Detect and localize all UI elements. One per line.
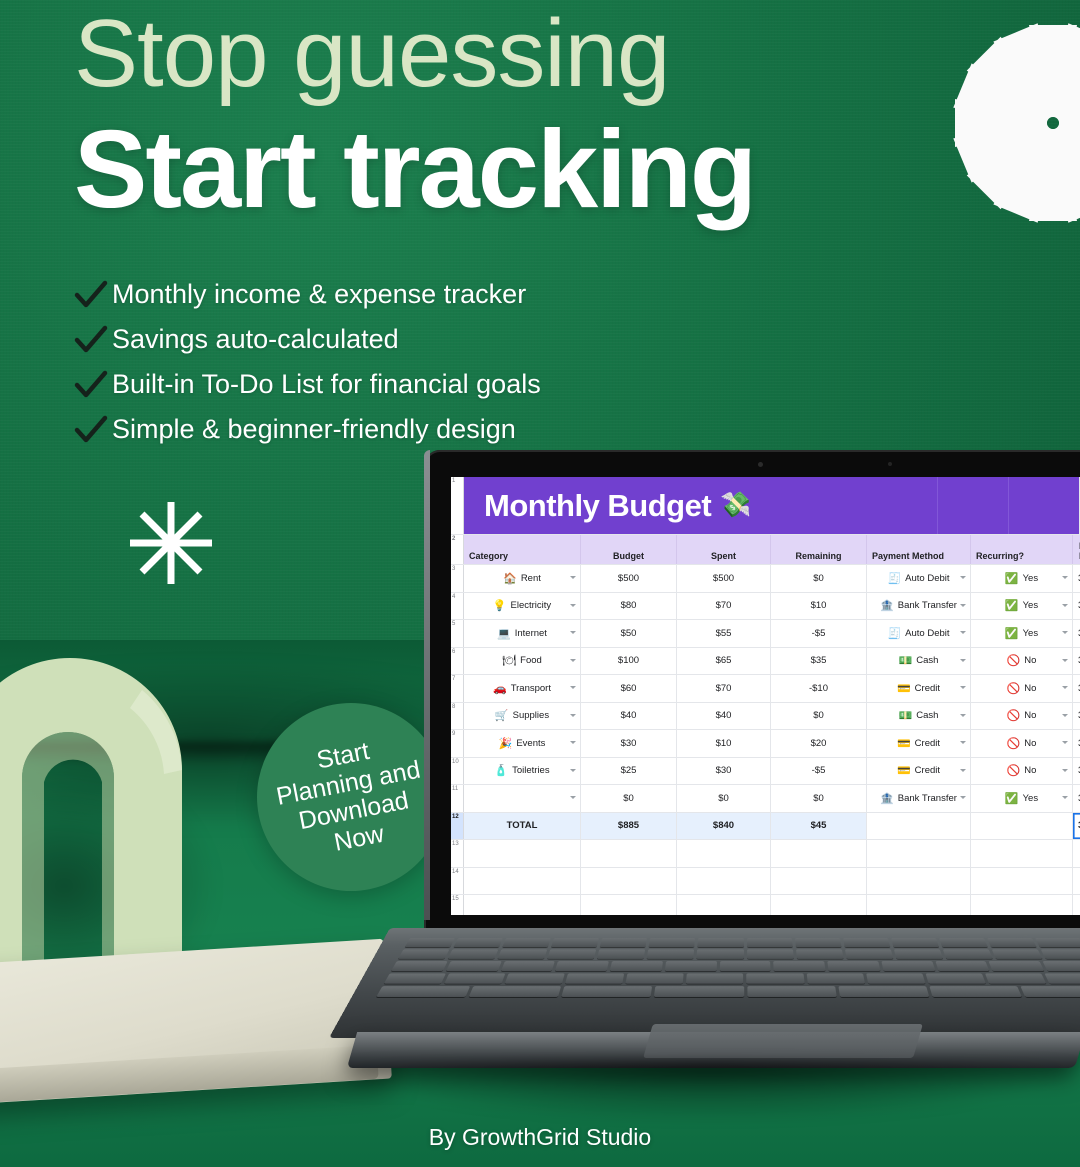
- table-empty-row[interactable]: 13: [451, 840, 1080, 868]
- column-header-budget[interactable]: Budget: [581, 535, 677, 564]
- cell-text: Transport: [511, 683, 551, 694]
- chevron-down-icon[interactable]: [1062, 576, 1068, 579]
- key: [1044, 973, 1080, 983]
- row-number[interactable]: 3: [451, 565, 464, 592]
- check-icon: [74, 415, 108, 445]
- laptop-trackpad[interactable]: [643, 1024, 923, 1058]
- headline-block: Stop guessing Start tracking: [74, 6, 974, 226]
- key: [562, 986, 653, 997]
- cell-payment-method[interactable]: 💵Cash: [867, 703, 971, 730]
- cell-text: No: [1024, 655, 1036, 666]
- cell-budget[interactable]: $60: [581, 675, 677, 702]
- chevron-down-icon[interactable]: [960, 659, 966, 662]
- headline-line-1: Stop guessing: [74, 6, 974, 102]
- cell-budget[interactable]: $100: [581, 648, 677, 675]
- row-number[interactable]: 5: [451, 620, 464, 647]
- payment-emoji-icon: 💵: [899, 654, 913, 667]
- chevron-down-icon[interactable]: [960, 796, 966, 799]
- table-row[interactable]: 4 💡Electricity $80 $70 $10 🏦Bank Transfe…: [451, 593, 1080, 621]
- cell-empty[interactable]: [971, 868, 1073, 895]
- cell-remaining[interactable]: $0: [771, 565, 867, 592]
- chevron-down-icon[interactable]: [960, 741, 966, 744]
- cell-text: Supplies: [513, 710, 549, 721]
- key: [647, 949, 694, 959]
- key: [1020, 986, 1080, 997]
- cell-total-label[interactable]: TOTAL: [464, 813, 581, 840]
- key: [989, 961, 1045, 971]
- cell-empty[interactable]: [464, 840, 581, 867]
- cell-spent[interactable]: $65: [677, 648, 771, 675]
- feature-label: Built-in To-Do List for financial goals: [112, 369, 541, 400]
- key: [1043, 961, 1080, 971]
- cell-category[interactable]: 💻Internet: [464, 620, 581, 647]
- cell-spent[interactable]: $0: [677, 785, 771, 812]
- key: [698, 938, 744, 947]
- chevron-down-icon[interactable]: [1062, 604, 1068, 607]
- cell-budget[interactable]: $500: [581, 565, 677, 592]
- cell-empty[interactable]: [971, 840, 1073, 867]
- row-number[interactable]: 14: [451, 868, 464, 895]
- key: [565, 973, 624, 983]
- chevron-down-icon[interactable]: [960, 769, 966, 772]
- cell-payment-method[interactable]: 💳Credit: [867, 675, 971, 702]
- key: [610, 961, 663, 971]
- cell-recurring[interactable]: 🚫No: [971, 675, 1073, 702]
- cell-category[interactable]: 🚗Transport: [464, 675, 581, 702]
- cell-empty[interactable]: [464, 868, 581, 895]
- feature-label: Simple & beginner-friendly design: [112, 414, 516, 445]
- key: [1041, 949, 1080, 959]
- cta-badge[interactable]: Start Planning and Download Now: [257, 703, 445, 891]
- cell-empty[interactable]: [1073, 840, 1080, 867]
- title-filler-cell: [938, 477, 1009, 534]
- cell-text: Cash: [916, 710, 938, 721]
- cell-empty[interactable]: [771, 840, 867, 867]
- check-icon: [74, 280, 108, 310]
- cell-text: Bank Transfer: [898, 600, 957, 611]
- cell-text: Bank Transfer: [898, 793, 957, 804]
- cell-empty[interactable]: [677, 895, 771, 915]
- feature-list: Monthly income & expense tracker Savings…: [74, 272, 541, 452]
- cell-empty[interactable]: [867, 868, 971, 895]
- list-item: Savings auto-calculated: [74, 317, 541, 362]
- laptop-shadow: [330, 1062, 1080, 1122]
- cell-budget[interactable]: $25: [581, 758, 677, 785]
- key: [795, 938, 842, 947]
- key: [719, 961, 771, 971]
- cell-due-date[interactable]: 3: [1073, 620, 1080, 647]
- row-number[interactable]: 10: [451, 758, 464, 785]
- cell-recurring[interactable]: ✅Yes: [971, 565, 1073, 592]
- payment-emoji-icon: 🏦: [880, 792, 894, 805]
- recurring-status-icon: 🚫: [1007, 709, 1021, 722]
- cell-due-date[interactable]: 3: [1073, 730, 1080, 757]
- cell-remaining[interactable]: $35: [771, 648, 867, 675]
- cell-empty[interactable]: [677, 840, 771, 867]
- cell-total-spent[interactable]: $840: [677, 813, 771, 840]
- cell-category[interactable]: 🎉Events: [464, 730, 581, 757]
- cell-empty[interactable]: [867, 840, 971, 867]
- cell-text: Yes: [1023, 793, 1039, 804]
- cell-budget[interactable]: $40: [581, 703, 677, 730]
- chevron-down-icon[interactable]: [570, 769, 576, 772]
- cell-text: Auto Debit: [905, 573, 949, 584]
- chevron-down-icon[interactable]: [570, 576, 576, 579]
- key: [985, 973, 1046, 983]
- key: [469, 986, 561, 997]
- cell-spent[interactable]: $10: [677, 730, 771, 757]
- cell-empty[interactable]: [867, 895, 971, 915]
- cell-empty[interactable]: [677, 868, 771, 895]
- headline-line-2: Start tracking: [74, 114, 974, 226]
- key: [626, 973, 684, 983]
- chevron-down-icon[interactable]: [1062, 796, 1068, 799]
- cell-text: Toiletries: [512, 765, 550, 776]
- key: [929, 986, 1022, 997]
- asterisk-icon: [128, 500, 214, 586]
- cell-empty[interactable]: [771, 895, 867, 915]
- key: [551, 938, 599, 947]
- payment-emoji-icon: 💵: [899, 709, 913, 722]
- key: [925, 973, 985, 983]
- list-item: Monthly income & expense tracker: [74, 272, 541, 317]
- row-number[interactable]: 4: [451, 593, 464, 620]
- cell-text: Credit: [915, 683, 940, 694]
- column-header-due-date[interactable]: Due Date: [1073, 535, 1080, 564]
- spreadsheet-grid: 1 Monthly Budget 💸 2 Category Budget Spe…: [451, 477, 1080, 915]
- cell-budget[interactable]: $50: [581, 620, 677, 647]
- cell-empty[interactable]: [464, 895, 581, 915]
- key-row: [392, 949, 1080, 959]
- key: [697, 949, 744, 959]
- chevron-down-icon[interactable]: [960, 604, 966, 607]
- cell-due-date[interactable]: 3: [1073, 648, 1080, 675]
- table-row[interactable]: 5 💻Internet $50 $55 -$5 🧾Auto Debit ✅Yes…: [451, 620, 1080, 648]
- row-number[interactable]: 9: [451, 730, 464, 757]
- chevron-down-icon[interactable]: [1062, 631, 1068, 634]
- cell-empty[interactable]: [971, 895, 1073, 915]
- cell-budget[interactable]: $0: [581, 785, 677, 812]
- key: [555, 961, 609, 971]
- key: [405, 938, 455, 947]
- cell-spent[interactable]: $55: [677, 620, 771, 647]
- cell-text: Food: [520, 655, 542, 666]
- key: [774, 961, 826, 971]
- recurring-status-icon: ✅: [1005, 599, 1019, 612]
- cell-text: Internet: [515, 628, 547, 639]
- cell-empty[interactable]: [771, 868, 867, 895]
- key: [838, 986, 929, 997]
- cell-due-date[interactable]: 3: [1073, 593, 1080, 620]
- cell-remaining[interactable]: $10: [771, 593, 867, 620]
- chevron-down-icon[interactable]: [1062, 659, 1068, 662]
- key: [827, 961, 880, 971]
- chevron-down-icon[interactable]: [570, 796, 576, 799]
- key: [376, 986, 470, 997]
- payment-emoji-icon: 🧾: [887, 627, 901, 640]
- key: [747, 986, 836, 997]
- key: [747, 938, 793, 947]
- key: [547, 949, 596, 959]
- cell-category[interactable]: 🛒Supplies: [464, 703, 581, 730]
- cell-due-date[interactable]: 3: [1073, 565, 1080, 592]
- title-filler-cell: [1009, 477, 1080, 534]
- laptop-lid-highlight: [424, 450, 430, 920]
- category-emoji-icon: 🏠: [503, 572, 517, 585]
- cell-payment-method[interactable]: 🧾Auto Debit: [867, 565, 971, 592]
- cell-empty[interactable]: [581, 895, 677, 915]
- table-row[interactable]: 3 🏠Rent $500 $500 $0 🧾Auto Debit ✅Yes 3: [451, 565, 1080, 593]
- poster-canvas: Stop guessing Start tracking Monthly inc…: [0, 0, 1080, 1167]
- chevron-down-icon[interactable]: [960, 631, 966, 634]
- key: [881, 961, 935, 971]
- table-row[interactable]: 8 🛒Supplies $40 $40 $0 💵Cash 🚫No 3: [451, 703, 1080, 731]
- recurring-status-icon: 🚫: [1007, 682, 1021, 695]
- recurring-status-icon: 🚫: [1007, 654, 1021, 667]
- cell-total-due-date[interactable]: 3,: [1073, 813, 1080, 840]
- row-number[interactable]: 8: [451, 703, 464, 730]
- key: [845, 949, 893, 959]
- payment-emoji-icon: 💳: [897, 737, 911, 750]
- key-row: [377, 973, 1080, 983]
- cell-payment-method[interactable]: 💳Credit: [867, 758, 971, 785]
- payment-emoji-icon: 💳: [897, 764, 911, 777]
- table-total-row[interactable]: 12 TOTAL $885 $840 $45 3,: [451, 813, 1080, 841]
- cell-remaining[interactable]: -$10: [771, 675, 867, 702]
- key: [448, 949, 499, 959]
- key: [454, 938, 504, 947]
- key: [943, 949, 993, 959]
- table-row[interactable]: 11 $0 $0 $0 🏦Bank Transfer ✅Yes 3: [451, 785, 1080, 813]
- cell-remaining[interactable]: $0: [771, 703, 867, 730]
- cell-due-date[interactable]: 3: [1073, 675, 1080, 702]
- key: [384, 973, 446, 983]
- key: [600, 938, 647, 947]
- cell-remaining[interactable]: -$5: [771, 758, 867, 785]
- key-row: [399, 938, 1080, 947]
- cell-recurring[interactable]: ✅Yes: [971, 785, 1073, 812]
- chevron-down-icon[interactable]: [570, 714, 576, 717]
- recurring-status-icon: ✅: [1005, 792, 1019, 805]
- key: [505, 973, 565, 983]
- row-number[interactable]: 15: [451, 895, 464, 915]
- table-row[interactable]: 9 🎉Events $30 $10 $20 💳Credit 🚫No 3: [451, 730, 1080, 758]
- cell-payment-method[interactable]: 🏦Bank Transfer: [867, 593, 971, 620]
- key: [894, 949, 943, 959]
- cell-recurring[interactable]: 🚫No: [971, 703, 1073, 730]
- cell-category[interactable]: 🧴Toiletries: [464, 758, 581, 785]
- cell-payment-method[interactable]: 🏦Bank Transfer: [867, 785, 971, 812]
- chevron-down-icon[interactable]: [1062, 686, 1068, 689]
- cell-budget[interactable]: $30: [581, 730, 677, 757]
- laptop-screen[interactable]: 1 Monthly Budget 💸 2 Category Budget Spe…: [451, 477, 1080, 915]
- cell-text: No: [1024, 738, 1036, 749]
- chevron-down-icon[interactable]: [1062, 769, 1068, 772]
- payment-emoji-icon: 🧾: [887, 572, 901, 585]
- cell-text: Yes: [1023, 600, 1039, 611]
- row-number[interactable]: 12: [451, 813, 464, 840]
- recurring-status-icon: ✅: [1005, 572, 1019, 585]
- key-row: [370, 986, 1080, 997]
- column-header-recurring[interactable]: Recurring?: [971, 535, 1073, 564]
- cell-empty[interactable]: [581, 868, 677, 895]
- row-number[interactable]: 13: [451, 840, 464, 867]
- cell-text: No: [1024, 710, 1036, 721]
- cell-due-date[interactable]: 3: [1073, 785, 1080, 812]
- chevron-down-icon[interactable]: [570, 604, 576, 607]
- table-row[interactable]: 7 🚗Transport $60 $70 -$10 💳Credit 🚫No 3: [451, 675, 1080, 703]
- cell-spent[interactable]: $40: [677, 703, 771, 730]
- feature-label: Savings auto-calculated: [112, 324, 399, 355]
- key: [806, 973, 864, 983]
- spreadsheet-header-row: 2 Category Budget Spent Remaining Paymen…: [451, 535, 1080, 565]
- footer-credit: By GrowthGrid Studio: [0, 1124, 1080, 1151]
- column-header-category[interactable]: Category: [464, 535, 581, 564]
- category-emoji-icon: 🛒: [495, 709, 509, 722]
- chevron-down-icon[interactable]: [960, 686, 966, 689]
- row-number[interactable]: 2: [451, 535, 464, 564]
- category-emoji-icon: 🧴: [494, 764, 508, 777]
- key: [649, 938, 696, 947]
- cell-text: No: [1024, 765, 1036, 776]
- payment-emoji-icon: 💳: [897, 682, 911, 695]
- recurring-status-icon: 🚫: [1007, 737, 1021, 750]
- cell-text: Yes: [1023, 573, 1039, 584]
- chevron-down-icon[interactable]: [960, 714, 966, 717]
- cell-total-recurring-blank[interactable]: [971, 813, 1073, 840]
- key: [686, 973, 743, 983]
- cell-category[interactable]: 💡Electricity: [464, 593, 581, 620]
- cell-spent[interactable]: $30: [677, 758, 771, 785]
- table-row[interactable]: 10 🧴Toiletries $25 $30 -$5 💳Credit 🚫No 3: [451, 758, 1080, 786]
- row-number[interactable]: 11: [451, 785, 464, 812]
- cell-total-remaining[interactable]: $45: [771, 813, 867, 840]
- key: [665, 961, 717, 971]
- key: [747, 949, 794, 959]
- feature-label: Monthly income & expense tracker: [112, 279, 526, 310]
- cell-due-date[interactable]: 3: [1073, 703, 1080, 730]
- spreadsheet-title-row: 1 Monthly Budget 💸: [451, 477, 1080, 535]
- cell-spent[interactable]: $70: [677, 675, 771, 702]
- cell-empty[interactable]: [581, 840, 677, 867]
- cell-text: Auto Debit: [905, 628, 949, 639]
- chevron-down-icon[interactable]: [960, 576, 966, 579]
- key: [498, 949, 548, 959]
- chevron-down-icon[interactable]: [570, 686, 576, 689]
- cta-badge-text: Start Planning and Download Now: [269, 728, 434, 866]
- cell-text: Electricity: [511, 600, 552, 611]
- spreadsheet-title-cell[interactable]: Monthly Budget 💸: [464, 477, 867, 534]
- column-header-payment-method[interactable]: Payment Method: [867, 535, 971, 564]
- key: [391, 961, 447, 971]
- cell-text: Credit: [915, 765, 940, 776]
- check-icon: [74, 370, 108, 400]
- row-number[interactable]: 6: [451, 648, 464, 675]
- cell-due-date[interactable]: 3: [1073, 758, 1080, 785]
- chevron-down-icon[interactable]: [570, 631, 576, 634]
- row-number[interactable]: 1: [451, 477, 464, 534]
- arch-prop: [0, 650, 222, 980]
- category-emoji-icon: 🍽: [502, 654, 516, 667]
- cell-text: Events: [516, 738, 545, 749]
- cell-category[interactable]: 🏠Rent: [464, 565, 581, 592]
- key: [654, 986, 743, 997]
- key: [501, 961, 556, 971]
- sensor-dot-icon: [888, 462, 892, 466]
- table-empty-row[interactable]: 15: [451, 895, 1080, 915]
- cell-text: Cash: [916, 655, 938, 666]
- key-row: [385, 961, 1080, 971]
- cell-spent[interactable]: $500: [677, 565, 771, 592]
- table-empty-row[interactable]: 14: [451, 868, 1080, 896]
- key: [446, 961, 502, 971]
- key: [502, 938, 551, 947]
- cell-category[interactable]: 🍽Food: [464, 648, 581, 675]
- cell-total-budget[interactable]: $885: [581, 813, 677, 840]
- cell-empty[interactable]: [1073, 895, 1080, 915]
- webcam-dot-icon: [758, 462, 763, 467]
- key: [866, 973, 925, 983]
- list-item: Built-in To-Do List for financial goals: [74, 362, 541, 407]
- cell-recurring[interactable]: 🚫No: [971, 648, 1073, 675]
- cell-remaining[interactable]: $0: [771, 785, 867, 812]
- cell-recurring[interactable]: ✅Yes: [971, 620, 1073, 647]
- check-icon: [74, 325, 108, 355]
- cell-text: Rent: [521, 573, 541, 584]
- money-emoji-icon: 💸: [720, 491, 751, 520]
- recurring-status-icon: ✅: [1005, 627, 1019, 640]
- cell-total-payment-blank[interactable]: [867, 813, 971, 840]
- cell-category[interactable]: [464, 785, 581, 812]
- key: [747, 973, 804, 983]
- row-number[interactable]: 7: [451, 675, 464, 702]
- chevron-down-icon[interactable]: [570, 741, 576, 744]
- cell-remaining[interactable]: -$5: [771, 620, 867, 647]
- table-row[interactable]: 6 🍽Food $100 $65 $35 💵Cash 🚫No 3: [451, 648, 1080, 676]
- cell-empty[interactable]: [1073, 868, 1080, 895]
- column-header-spent[interactable]: Spent: [677, 535, 771, 564]
- category-emoji-icon: 🚗: [493, 682, 507, 695]
- key: [891, 938, 939, 947]
- list-item: Simple & beginner-friendly design: [74, 407, 541, 452]
- cell-remaining[interactable]: $20: [771, 730, 867, 757]
- spreadsheet[interactable]: 1 Monthly Budget 💸 2 Category Budget Spe…: [451, 477, 1080, 915]
- chevron-down-icon[interactable]: [1062, 741, 1068, 744]
- category-emoji-icon: 🎉: [499, 737, 513, 750]
- key: [444, 973, 505, 983]
- cell-spent[interactable]: $70: [677, 593, 771, 620]
- key: [843, 938, 890, 947]
- cell-budget[interactable]: $80: [581, 593, 677, 620]
- chevron-down-icon[interactable]: [570, 659, 576, 662]
- cell-payment-method[interactable]: 💳Credit: [867, 730, 971, 757]
- payment-emoji-icon: 🏦: [880, 599, 894, 612]
- recurring-status-icon: 🚫: [1007, 764, 1021, 777]
- key: [935, 961, 990, 971]
- cell-recurring[interactable]: 🚫No: [971, 730, 1073, 757]
- cell-recurring[interactable]: 🚫No: [971, 758, 1073, 785]
- cell-text: Credit: [915, 738, 940, 749]
- laptop-keys[interactable]: [369, 938, 1080, 998]
- page-title: Monthly Budget: [484, 488, 711, 524]
- cell-payment-method[interactable]: 💵Cash: [867, 648, 971, 675]
- cell-payment-method[interactable]: 🧾Auto Debit: [867, 620, 971, 647]
- key: [1035, 938, 1080, 947]
- chevron-down-icon[interactable]: [1062, 714, 1068, 717]
- cell-recurring[interactable]: ✅Yes: [971, 593, 1073, 620]
- column-header-remaining[interactable]: Remaining: [771, 535, 867, 564]
- category-emoji-icon: 💡: [493, 599, 507, 612]
